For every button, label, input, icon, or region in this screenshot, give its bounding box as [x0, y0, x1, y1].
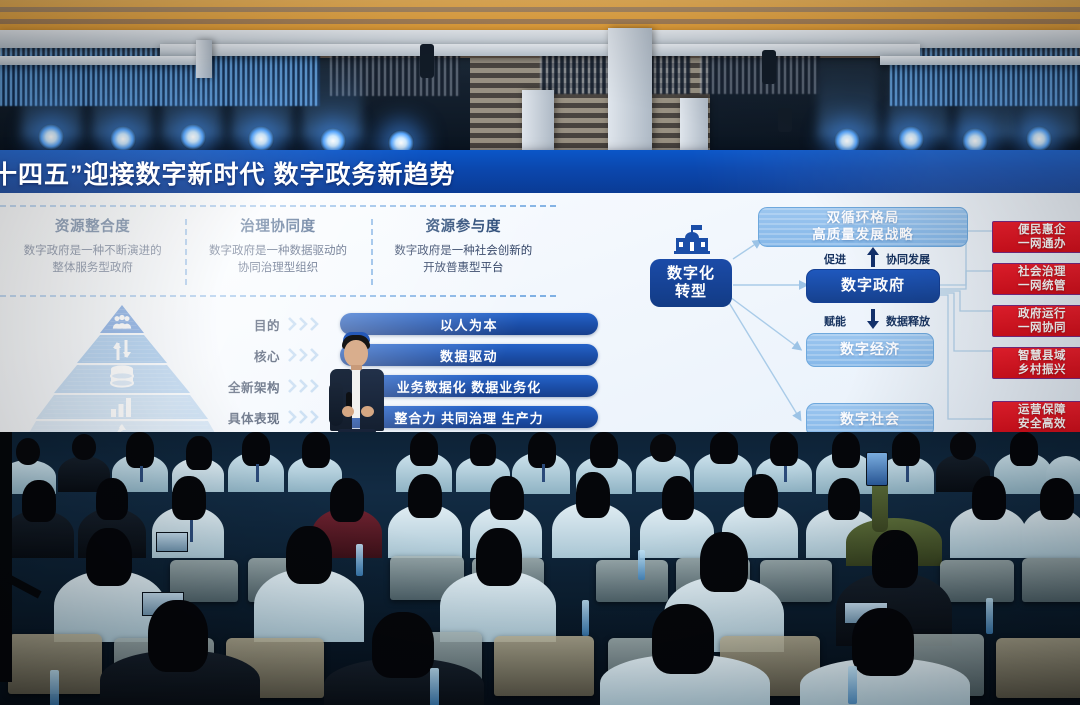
audience-head [126, 432, 154, 468]
stage-spotlight [248, 126, 274, 152]
concept-column-1: 资源整合度 数字政府是一种不断演进的 整体服务型政府 [0, 215, 185, 276]
outcome-box-1: 便民惠企 一网通办 [992, 221, 1080, 253]
audience-head [330, 478, 364, 522]
water-bottle [638, 550, 645, 580]
concept-line: 协同治理型组织 [185, 260, 370, 277]
presenter-jacket-right [360, 369, 384, 431]
concept-heading: 治理协同度 [185, 215, 370, 236]
down-arrow-left-label: 赋能 [824, 313, 846, 329]
stage-spotlight [110, 126, 136, 152]
diagram-digital-society-label: 数字社会 [840, 411, 900, 429]
diagram-strategy-box: 双循环格局 高质量发展战略 [758, 207, 968, 247]
audience-head [852, 608, 914, 676]
concept-line: 开放普惠型平台 [371, 260, 556, 277]
pillar-label: 核心 [218, 346, 280, 365]
stage-spotlight [962, 128, 988, 152]
outcome-label: 政府运行 一网协同 [1018, 307, 1066, 336]
concept-line: 数字政府是一种数据驱动的 [185, 243, 370, 260]
laptop [156, 532, 188, 552]
pillar-row: 目的 以人为本 [218, 311, 598, 337]
audience-head [972, 476, 1006, 520]
audience-head [408, 474, 442, 518]
concept-line: 数字政府是一种不断演进的 [0, 243, 185, 260]
audience-head [1040, 478, 1074, 520]
light-beam [302, 58, 362, 138]
audience-head [662, 476, 694, 520]
bar-chart-icon [110, 397, 134, 417]
government-building-icon [674, 225, 714, 255]
outcome-box-2: 社会治理 一网统管 [992, 263, 1080, 295]
light-beam [1020, 58, 1080, 138]
ceiling-beam [160, 44, 920, 56]
chevron-right-icon [287, 315, 333, 333]
light-beam [818, 58, 878, 138]
arrow-up-icon [866, 247, 880, 267]
light-beam [958, 58, 1018, 138]
water-bottle [356, 544, 363, 576]
audience-area [0, 432, 1080, 705]
outcome-label: 便民惠企 一网通办 [1018, 223, 1066, 252]
transformation-diagram: 数字化 转型 双循环格局 高质量发展战略 促进 协同发展 数字政府 赋能 数据释… [648, 201, 1080, 469]
chair [494, 636, 594, 696]
water-bottle [848, 666, 857, 704]
lanyard [784, 466, 787, 482]
audience-head [476, 528, 522, 586]
hanging-fixture [420, 44, 434, 78]
audience-head [172, 476, 206, 520]
audience-head [590, 432, 618, 468]
concept-line: 整体服务型政府 [0, 260, 185, 277]
venue-ceiling [0, 0, 1080, 152]
stage-spotlight [834, 128, 860, 152]
water-bottle [582, 600, 589, 636]
diagram-digital-economy-label: 数字经济 [840, 341, 900, 359]
exchange-arrows-icon [112, 339, 132, 361]
stage-spotlight [320, 128, 346, 152]
audience-head [892, 432, 920, 466]
concept-heading: 资源整合度 [0, 215, 185, 236]
audience-head [650, 434, 676, 462]
strip-divider-bottom [0, 295, 556, 297]
up-arrow-right-label: 协同发展 [886, 251, 930, 267]
audience-head [700, 532, 748, 592]
presenter-hand-left [342, 406, 354, 417]
arrow-down-icon [866, 309, 880, 329]
audience-head [490, 476, 524, 520]
audience-head [832, 432, 860, 468]
outcome-label: 运营保障 安全高效 [1018, 403, 1066, 432]
water-bottle [430, 668, 439, 705]
diagram-source-label: 数字化 转型 [667, 265, 715, 301]
concept-column-2: 治理协同度 数字政府是一种数据驱动的 协同治理型组织 [185, 215, 370, 276]
presenter-hand-right [361, 406, 374, 417]
smartphone [866, 452, 888, 486]
audience-head [372, 612, 434, 678]
diagram-digital-government-label: 数字政府 [841, 277, 905, 296]
audience-head [528, 432, 556, 468]
audience-head [710, 432, 738, 464]
water-bottle [986, 598, 993, 634]
chair [1022, 558, 1080, 602]
stage-spotlight [1026, 126, 1052, 152]
outcome-box-4: 智慧县域 乡村振兴 [992, 347, 1080, 379]
lanyard [190, 520, 193, 542]
diagram-digital-economy-box: 数字经济 [806, 333, 934, 367]
up-arrow-left-label: 促进 [824, 251, 846, 267]
presentation-screen: 资源整合度 数字政府是一种不断演进的 整体服务型政府 治理协同度 数字政府是一种… [0, 193, 1080, 473]
audience-head [86, 528, 132, 586]
audience-head [652, 604, 714, 674]
diagram-digital-government-box: 数字政府 [806, 269, 940, 303]
lanyard [256, 464, 259, 482]
audience-head [96, 478, 128, 520]
audience-head [828, 478, 860, 520]
camera-tripod [0, 432, 12, 682]
audience-head [72, 434, 96, 460]
people-icon [112, 314, 132, 330]
audience-head [410, 432, 438, 466]
stage-spotlight [388, 130, 414, 152]
pillar-row: 核心 数据驱动 [218, 342, 598, 368]
audience-head [1010, 432, 1038, 466]
stage-spotlight [38, 124, 64, 150]
pillar-row: 全新架构 业务数据化 数据业务化 [218, 373, 598, 399]
audience-head [148, 600, 208, 672]
conference-photo: 十四五”迎接数字新时代 数字政务新趋势 资源整合度 数字政府是一种不断演进的 整… [0, 0, 1080, 705]
chair [940, 560, 1014, 602]
ceiling-column [522, 90, 554, 152]
pillar-row: 具体表现 整合力 共同治理 生产力 [218, 404, 598, 430]
pillar-label: 目的 [218, 315, 280, 334]
audience-head [470, 434, 496, 466]
lanyard [140, 466, 143, 482]
database-icon [109, 365, 135, 391]
pillar-label: 具体表现 [218, 408, 280, 427]
presenter-head [344, 340, 368, 367]
lanyard [906, 466, 909, 482]
outcome-label: 社会治理 一网统管 [1018, 265, 1066, 294]
audience-head [286, 526, 332, 584]
light-beam [888, 58, 948, 138]
ceiling-column [608, 28, 652, 152]
audience-head [302, 432, 330, 468]
concept-column-3: 资源参与度 数字政府是一种社会创新的 开放普惠型平台 [371, 215, 556, 276]
stage-title-banner: 十四五”迎接数字新时代 数字政务新趋势 [0, 150, 1080, 193]
down-arrow-right-label: 数据释放 [886, 313, 930, 329]
pillar-label: 全新架构 [218, 377, 280, 396]
stage-spotlight [180, 124, 206, 150]
maturity-pyramid [22, 305, 222, 447]
hanging-fixture [762, 50, 776, 84]
outcome-box-3: 政府运行 一网协同 [992, 305, 1080, 337]
chair [996, 638, 1080, 698]
audience-head [16, 438, 40, 465]
diagram-source-box: 数字化 转型 [650, 259, 732, 307]
banner-title-text: 十四五”迎接数字新时代 数字政务新趋势 [0, 155, 455, 191]
audience-head [22, 480, 56, 522]
audience-head [950, 432, 976, 460]
concept-line: 数字政府是一种社会创新的 [371, 243, 556, 260]
concept-heading: 资源参与度 [371, 215, 556, 236]
audience-head [576, 472, 610, 518]
outcome-label: 智慧县域 乡村振兴 [1018, 349, 1066, 378]
chair [596, 560, 668, 602]
audience-head [770, 432, 798, 466]
concept-strip: 资源整合度 数字政府是一种不断演进的 整体服务型政府 治理协同度 数字政府是一种… [0, 205, 556, 297]
presenter-arm [329, 382, 343, 426]
water-bottle [50, 670, 59, 705]
audience-head [872, 530, 918, 588]
diagram-strategy-label: 双循环格局 高质量发展战略 [812, 210, 914, 244]
outcome-box-5: 运营保障 安全高效 [992, 401, 1080, 433]
lanyard [542, 464, 545, 482]
strip-divider-top [0, 205, 556, 207]
stage-spotlight [898, 126, 924, 152]
audience-head [242, 432, 270, 466]
hanging-fixture [778, 108, 792, 132]
audience-head [186, 436, 212, 470]
ceiling-column [680, 98, 708, 152]
audience-head [744, 474, 778, 518]
